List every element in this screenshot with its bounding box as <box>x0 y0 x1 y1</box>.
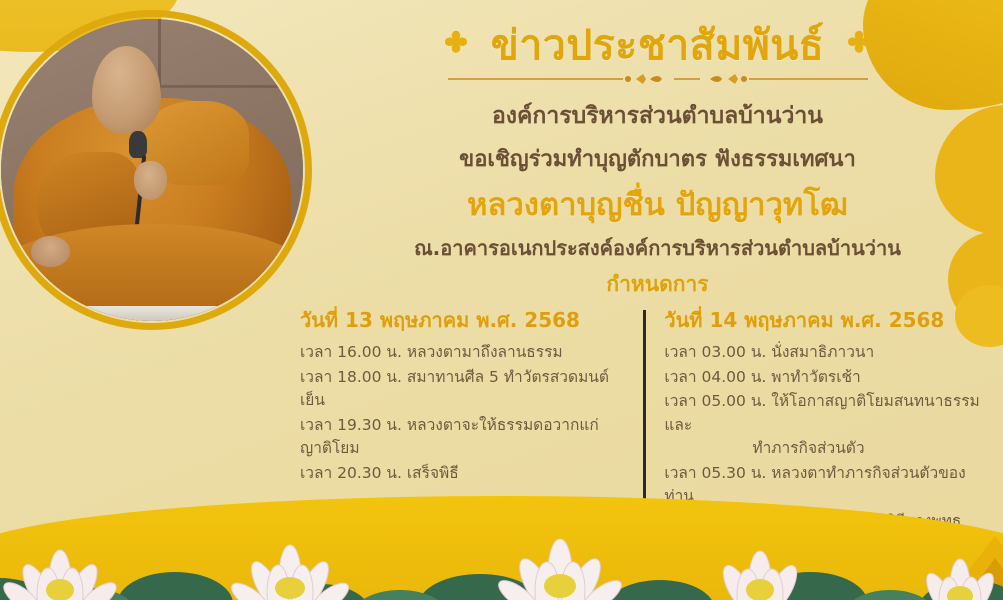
lotus-flower <box>921 559 998 600</box>
schedule-item-text: เวลา 03.00 น. นั่งสมาธิภาวนา <box>664 343 874 361</box>
schedule-column-day1: วันที่ 13 พฤษภาคม พ.ศ. 2568 เวลา 16.00 น… <box>300 308 643 486</box>
monk-portrait <box>0 10 312 330</box>
invitation-line: ขอเชิญร่วมทำบุญตักบาตร ฟังธรรมเทศนา <box>330 145 985 176</box>
schedule-item-text: เวลา 04.00 น. พาทำวัตรเช้า <box>664 368 860 386</box>
monk-name: หลวงตาบุญชื่น ปัญญาวุทโฒ <box>330 185 985 225</box>
schedule-date-day1: วันที่ 13 พฤษภาคม พ.ศ. 2568 <box>300 308 629 332</box>
lotus-flower <box>0 550 121 600</box>
organization-name: องค์การบริหารส่วนตำบลบ้านว่าน <box>330 101 985 132</box>
schedule-item: เวลา 19.30 น. หลวงตาจะให้ธรรมดอวากแก่ญาต… <box>300 414 629 461</box>
title-row: ข่าวประชาสัมพันธ์ <box>330 22 985 69</box>
flower-ornament-left-icon <box>439 29 473 63</box>
schedule-item-text: เวลา 20.30 น. เสร็จพิธี <box>300 464 459 482</box>
portrait-gold-ring <box>0 10 312 330</box>
lotus-artwork <box>0 496 1003 600</box>
flower-ornament-right-icon <box>842 29 876 63</box>
schedule-item-text: เวลา 19.30 น. หลวงตาจะให้ธรรมดอวากแก่ญาต… <box>300 416 599 458</box>
lotus-flower <box>227 545 353 600</box>
schedule-item: เวลา 05.00 น. ให้โอกาสญาติโยมสนทนาธรรมแล… <box>664 390 990 461</box>
venue-line: ณ.อาคารอเนกประสงค์องค์การบริหารส่วนตำบลบ… <box>330 235 985 262</box>
schedule-item: เวลา 16.00 น. หลวงตามาถึงลานธรรม <box>300 341 629 365</box>
schedule-item-continuation: ทำภารกิจส่วนตัว <box>664 437 990 461</box>
bottom-lotus-band <box>0 496 1003 600</box>
schedule-item: เวลา 03.00 น. นั่งสมาธิภาวนา <box>664 341 990 365</box>
page-title: ข่าวประชาสัมพันธ์ <box>491 22 825 69</box>
poster-canvas: ข่าวประชาสัมพันธ์ องค์การบริหารส่วนตำบลบ… <box>0 0 1003 600</box>
schedule-item: เวลา 18.00 น. สมาทานศีล 5 ทำวัตรสวดมนต์เ… <box>300 366 629 413</box>
schedule-item-text: เวลา 16.00 น. หลวงตามาถึงลานธรรม <box>300 343 563 361</box>
schedule-item-text: เวลา 18.00 น. สมาทานศีล 5 ทำวัตรสวดมนต์เ… <box>300 368 609 410</box>
agenda-heading: กำหนดการ <box>330 271 985 298</box>
lotus-flower <box>717 551 802 600</box>
poster-header: ข่าวประชาสัมพันธ์ องค์การบริหารส่วนตำบลบ… <box>330 22 985 299</box>
lotus-flower <box>494 539 626 600</box>
schedule-date-day2: วันที่ 14 พฤษภาคม พ.ศ. 2568 <box>664 308 990 332</box>
schedule-item: เวลา 20.30 น. เสร็จพิธี <box>300 462 629 486</box>
ornamental-divider <box>438 71 878 87</box>
schedule-item: เวลา 04.00 น. พาทำวัตรเช้า <box>664 366 990 390</box>
schedule-item-text: เวลา 05.00 น. ให้โอกาสญาติโยมสนทนาธรรมแล… <box>664 392 979 434</box>
